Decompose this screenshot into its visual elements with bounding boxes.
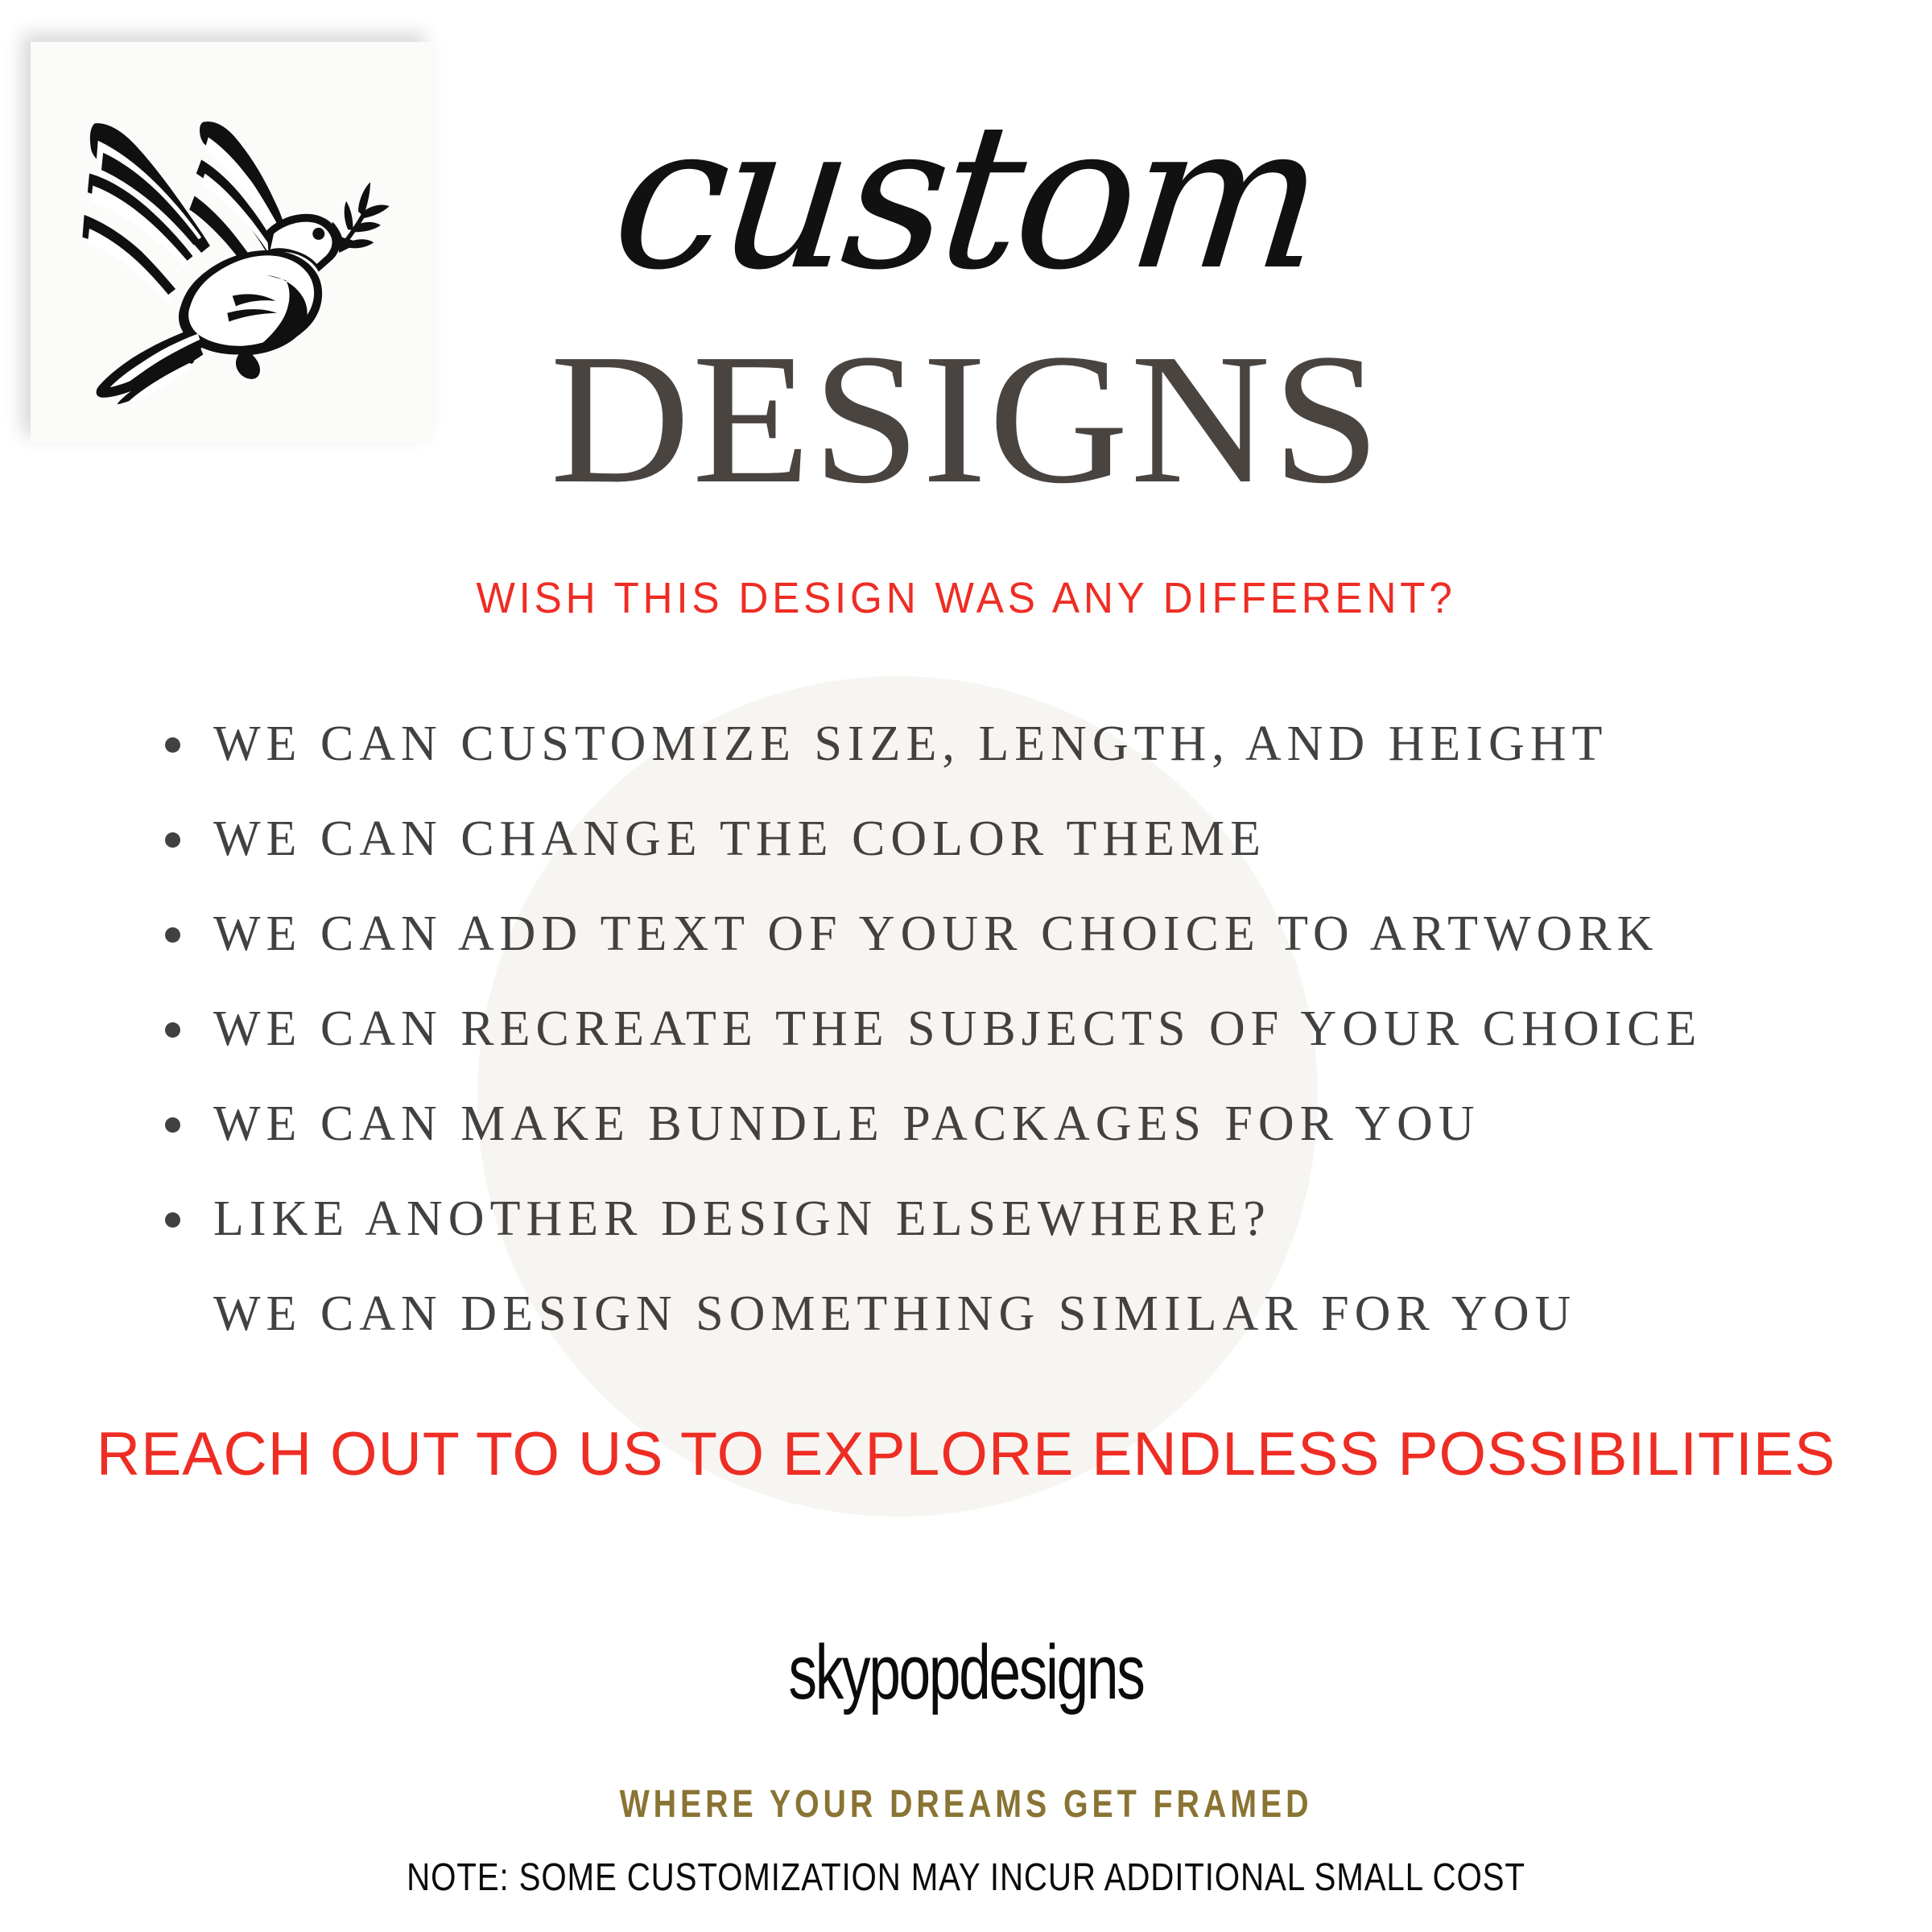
list-item: WE CAN CHANGE THE COLOR THEME (161, 810, 1811, 905)
page-subtitle: WISH THIS DESIGN WAS ANY DIFFERENT? (48, 576, 1884, 620)
list-item: LIKE ANOTHER DESIGN ELSEWHERE? (161, 1190, 1811, 1285)
bullet-dot-icon (165, 927, 180, 943)
bullet-dot-icon (165, 1117, 180, 1133)
customization-options-list: WE CAN CUSTOMIZE SIZE, LENGTH, AND HEIGH… (161, 715, 1811, 1380)
list-item-label: WE CAN ADD TEXT OF YOUR CHOICE TO ARTWOR… (213, 906, 1658, 961)
list-item-label: WE CAN CHANGE THE COLOR THEME (213, 811, 1266, 866)
bullet-dot-icon (165, 1212, 180, 1228)
brand-tagline: WHERE YOUR DREAMS GET FRAMED (174, 1785, 1758, 1824)
bullet-dot-icon (165, 1022, 180, 1038)
dove-artwork-card (31, 42, 433, 443)
list-item: WE CAN ADD TEXT OF YOUR CHOICE TO ARTWOR… (161, 905, 1811, 1000)
bullet-dot-icon (165, 737, 180, 753)
list-item: WE CAN MAKE BUNDLE PACKAGES FOR YOU (161, 1095, 1811, 1190)
call-to-action-text: REACH OUT TO US TO EXPLORE ENDLESS POSSI… (10, 1424, 1922, 1485)
list-item-label: WE CAN CUSTOMIZE SIZE, LENGTH, AND HEIGH… (213, 716, 1608, 771)
bullet-dot-icon (165, 832, 180, 848)
list-item: WE CAN CUSTOMIZE SIZE, LENGTH, AND HEIGH… (161, 715, 1811, 810)
list-item-continuation: WE CAN DESIGN SOMETHING SIMILAR FOR YOU (161, 1285, 1811, 1380)
brand-name: skypopdesigns (251, 1634, 1681, 1711)
list-item-label: WE CAN RECREATE THE SUBJECTS OF YOUR CHO… (213, 1001, 1702, 1056)
list-item: WE CAN RECREATE THE SUBJECTS OF YOUR CHO… (161, 1000, 1811, 1095)
footer-note: NOTE: SOME CUSTOMIZATION MAY INCUR ADDIT… (155, 1859, 1777, 1897)
list-item-label: WE CAN MAKE BUNDLE PACKAGES FOR YOU (213, 1096, 1480, 1151)
list-item-label: WE CAN DESIGN SOMETHING SIMILAR FOR YOU (213, 1286, 1576, 1341)
list-item-label: LIKE ANOTHER DESIGN ELSEWHERE? (213, 1191, 1271, 1246)
